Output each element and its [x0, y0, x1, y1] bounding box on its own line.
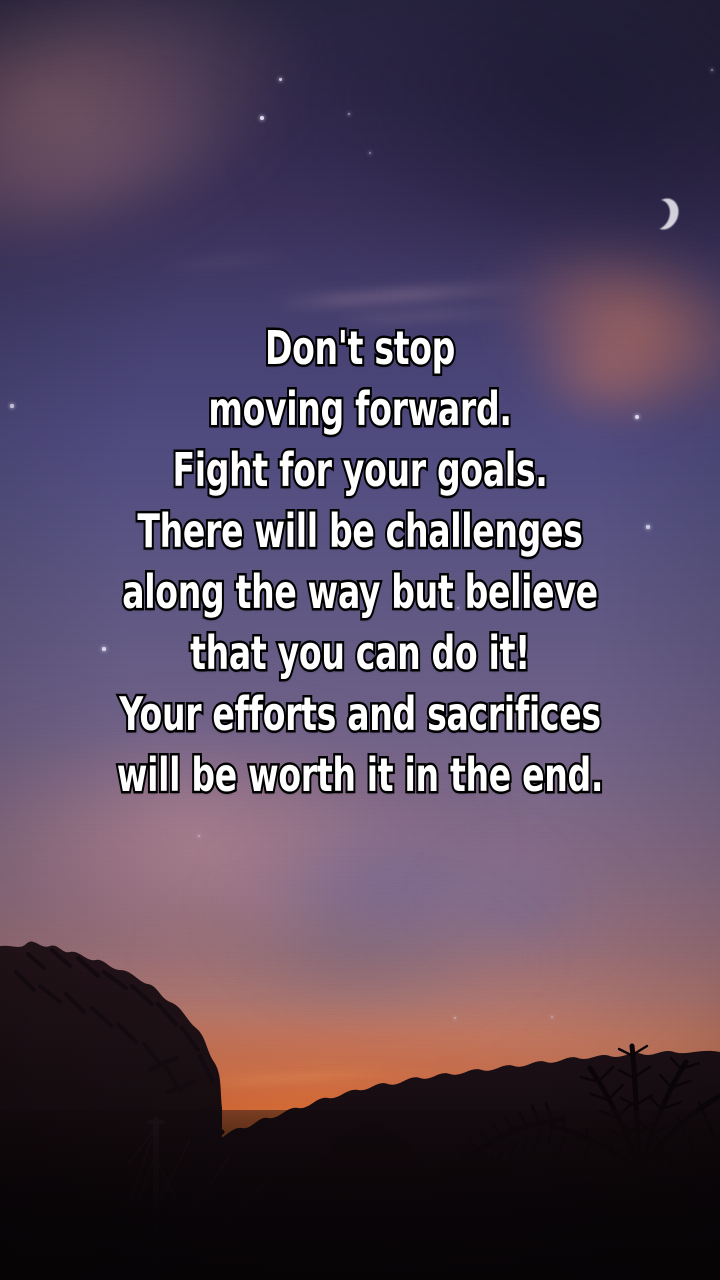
- quote-line: There will be challenges: [78, 501, 641, 562]
- foreground-dark-floor: [0, 1110, 720, 1280]
- quote-line: along the way but believe: [78, 562, 641, 623]
- quote-line: Your efforts and sacrifices: [78, 684, 641, 745]
- star: [369, 152, 371, 154]
- quote-block: Don't stop moving forward. Fight for you…: [0, 318, 720, 806]
- wallpaper-screen: Don't stop moving forward. Fight for you…: [0, 0, 720, 1280]
- star: [260, 116, 264, 120]
- quote-line: Don't stop: [78, 318, 641, 379]
- star: [279, 78, 282, 81]
- quote-line: Fight for your goals.: [78, 440, 641, 501]
- quote-line: will be worth it in the end.: [78, 745, 641, 806]
- quote-line: that you can do it!: [78, 623, 641, 684]
- quote-line: moving forward.: [78, 379, 641, 440]
